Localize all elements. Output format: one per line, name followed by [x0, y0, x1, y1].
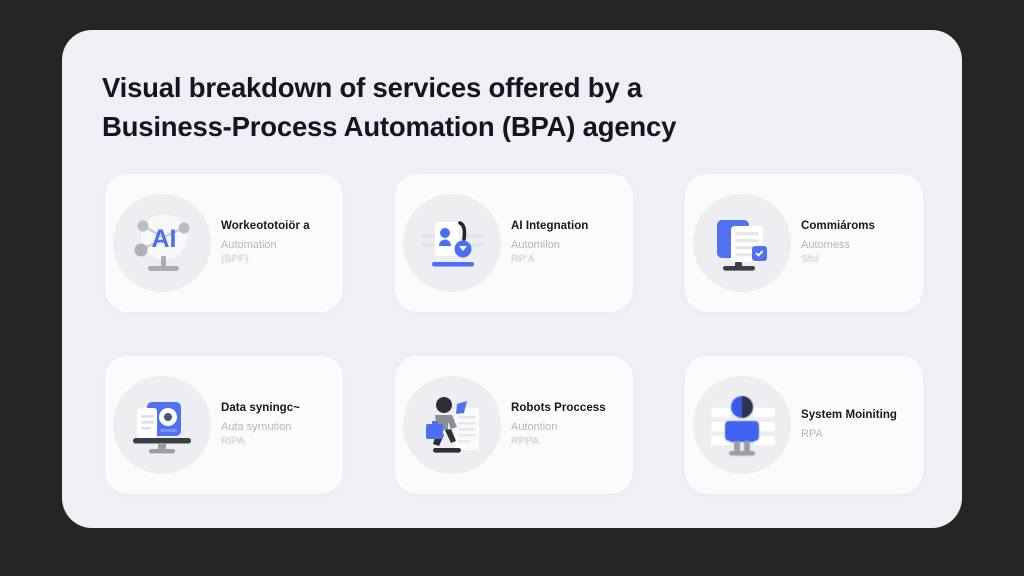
card-subtitle-2: (BPF)	[221, 252, 310, 266]
service-card-communications[interactable]: Commiároms Automess Sfsl	[685, 174, 923, 312]
page-title-line-1: Visual breakdown of services offered by …	[102, 68, 902, 107]
card-text: Robots Proccess Autontion RPPA.	[511, 402, 606, 448]
service-card-grid: AI Workeototoiör a Automation (BPF)	[105, 174, 923, 494]
card-subtitle-2: Sfsl	[801, 252, 875, 266]
service-card-data-syncing[interactable]: Data syningc~ Auta syrnution RIPA	[105, 356, 343, 494]
card-subtitle-1: RPA	[801, 427, 897, 441]
card-subtitle-1: Automation	[221, 238, 310, 252]
card-title: Robots Proccess	[511, 402, 606, 414]
page-title: Visual breakdown of services offered by …	[102, 68, 902, 146]
card-subtitle-1: Automess	[801, 238, 875, 252]
card-text: Data syningc~ Auta syrnution RIPA	[221, 402, 300, 448]
ai-network-icon: AI	[113, 194, 211, 292]
card-subtitle-2: RIPA	[221, 434, 300, 448]
document-folder-icon	[693, 194, 791, 292]
card-text: Commiároms Automess Sfsl	[801, 220, 875, 266]
card-title: Data syningc~	[221, 402, 300, 414]
monitor-document-icon	[113, 376, 211, 474]
svg-text:AI: AI	[152, 225, 177, 253]
card-text: Workeototoiör a Automation (BPF)	[221, 220, 310, 266]
card-title: System Moiniting	[801, 409, 897, 421]
walking-person-document-icon	[403, 376, 501, 474]
content-panel: Visual breakdown of services offered by …	[62, 30, 962, 528]
card-title: Workeototoiör a	[221, 220, 310, 232]
card-text: AI Integnation Automilon RP'A	[511, 220, 588, 266]
card-subtitle-2: RP'A	[511, 252, 588, 266]
card-subtitle-1: Automilon	[511, 238, 588, 252]
card-subtitle-2: RPPA.	[511, 434, 606, 448]
card-title: Commiároms	[801, 220, 875, 232]
person-dashboard-icon	[693, 376, 791, 474]
page-title-line-2: Business-Process Automation (BPA) agency	[102, 107, 902, 146]
service-card-workflow-automation[interactable]: AI Workeototoiör a Automation (BPF)	[105, 174, 343, 312]
service-card-system-monitoring[interactable]: System Moiniting RPA	[685, 356, 923, 494]
service-card-robotic-process[interactable]: Robots Proccess Autontion RPPA.	[395, 356, 633, 494]
card-subtitle-1: Autontion	[511, 420, 606, 434]
card-text: System Moiniting RPA	[801, 409, 897, 441]
card-subtitle-1: Auta syrnution	[221, 420, 300, 434]
ai-integration-document-icon	[403, 194, 501, 292]
card-title: AI Integnation	[511, 220, 588, 232]
service-card-ai-integration[interactable]: AI Integnation Automilon RP'A	[395, 174, 633, 312]
